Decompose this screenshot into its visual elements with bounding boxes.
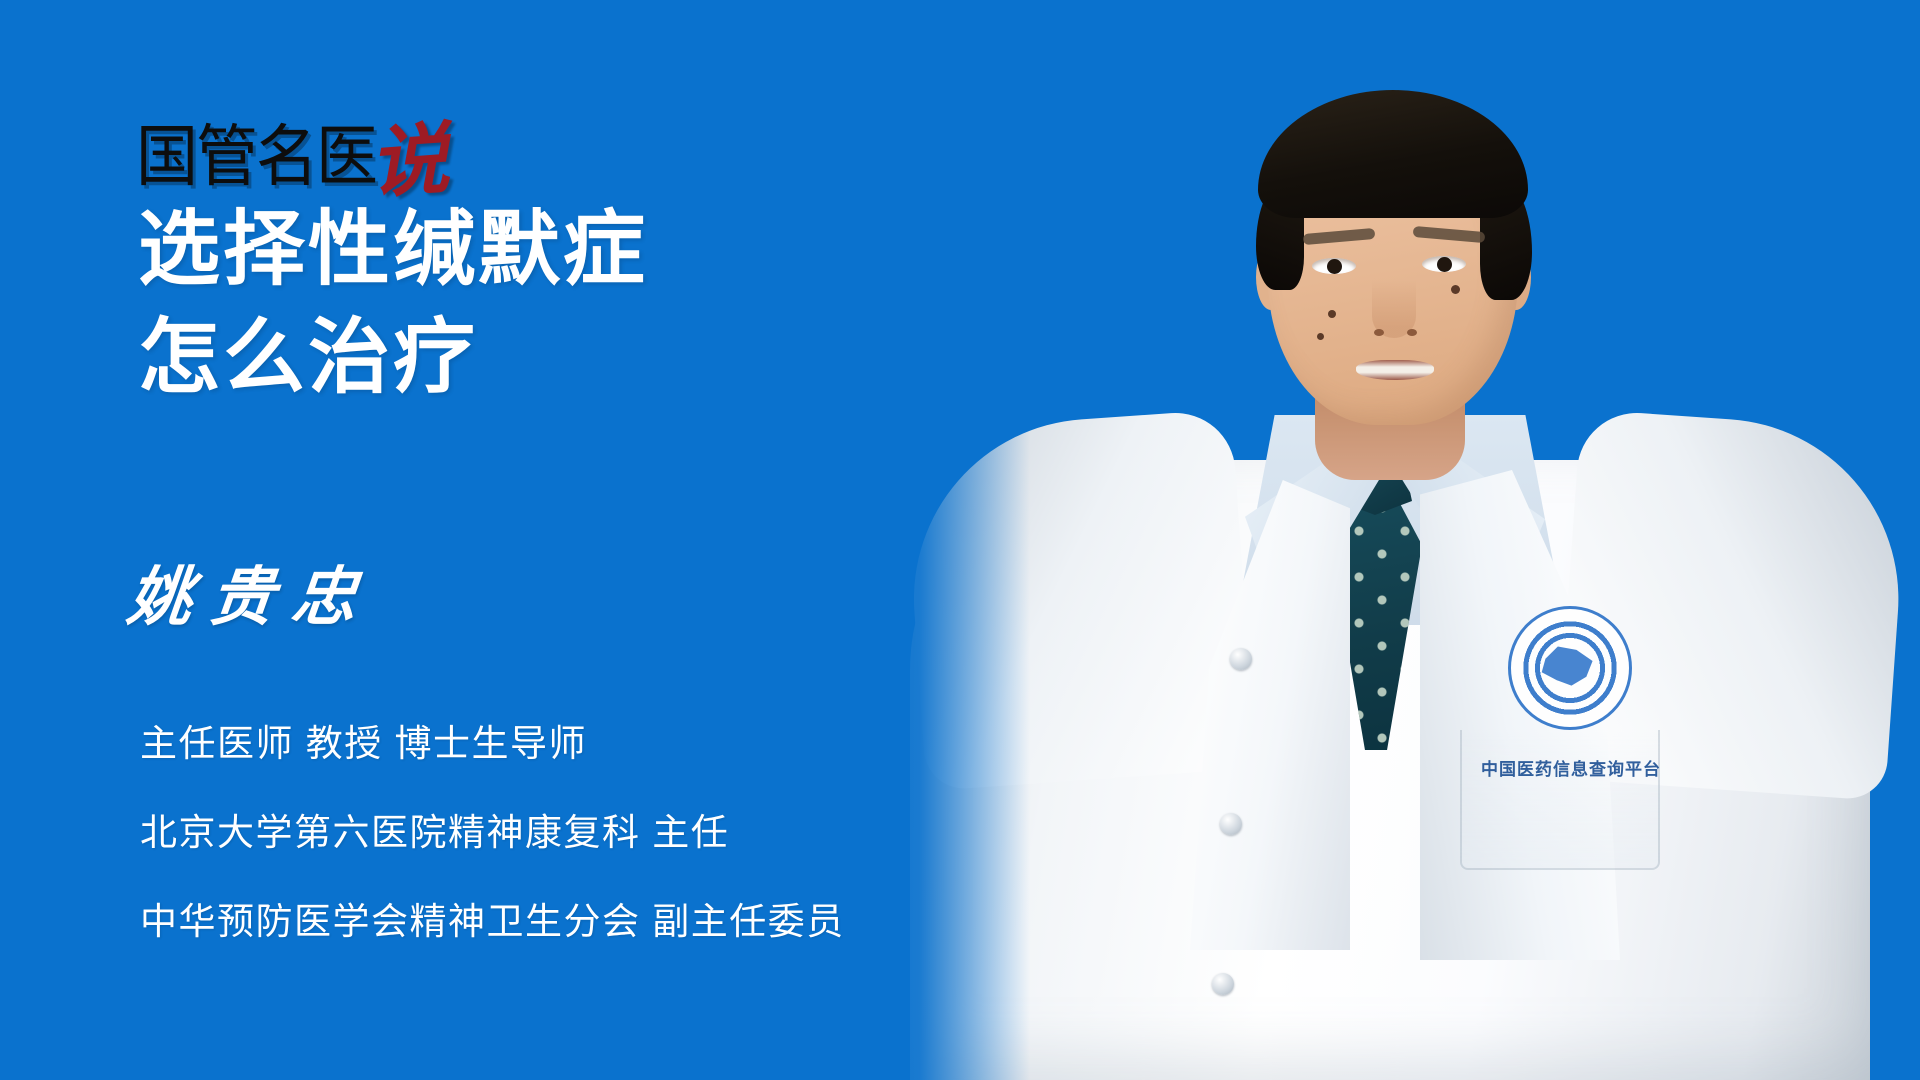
doctor-credentials: 主任医师 教授 博士生导师 北京大学第六医院精神康复科 主任 中华预防医学会精神… xyxy=(140,700,845,966)
title-line-2: 怎么治疗 xyxy=(138,304,648,412)
credential-line: 北京大学第六医院精神康复科 主任 xyxy=(140,789,845,878)
brand-logo-primary-text: 国管名医 xyxy=(136,124,376,191)
facial-mole xyxy=(1451,285,1460,294)
coat-button xyxy=(1230,648,1252,670)
doctor-name: 姚贵忠 xyxy=(125,566,378,630)
coat-chest-pocket xyxy=(1460,730,1660,870)
credential-line: 中华预防医学会精神卫生分会 副主任委员 xyxy=(140,878,845,967)
brand-logo-accent-text: 说 xyxy=(367,127,451,196)
nostril-right xyxy=(1407,329,1417,336)
title-line-1: 选择性缄默症 xyxy=(138,196,648,304)
brand-logo: 国管名医 说 xyxy=(136,96,448,188)
facial-mole xyxy=(1317,333,1324,340)
coat-shoulder-left xyxy=(902,409,1256,791)
doctor-portrait: 中国医药信息查询平台 xyxy=(860,0,1920,1080)
pupil-right xyxy=(1437,257,1452,272)
platform-badge-label: 中国医药信息查询平台 xyxy=(1480,755,1662,780)
facial-mole xyxy=(1328,310,1336,318)
coat-button xyxy=(1220,813,1242,835)
hair-top xyxy=(1258,90,1528,218)
coat-button xyxy=(1212,973,1234,995)
pupil-left xyxy=(1327,259,1342,274)
mouth xyxy=(1356,360,1434,380)
nostril-left xyxy=(1374,329,1384,336)
page-title: 选择性缄默症 怎么治疗 xyxy=(138,196,648,412)
credential-line: 主任医师 教授 博士生导师 xyxy=(140,700,845,789)
poster-canvas: 国管名医 说 选择性缄默症 怎么治疗 姚贵忠 主任医师 教授 博士生导师 北京大… xyxy=(0,0,1920,1080)
